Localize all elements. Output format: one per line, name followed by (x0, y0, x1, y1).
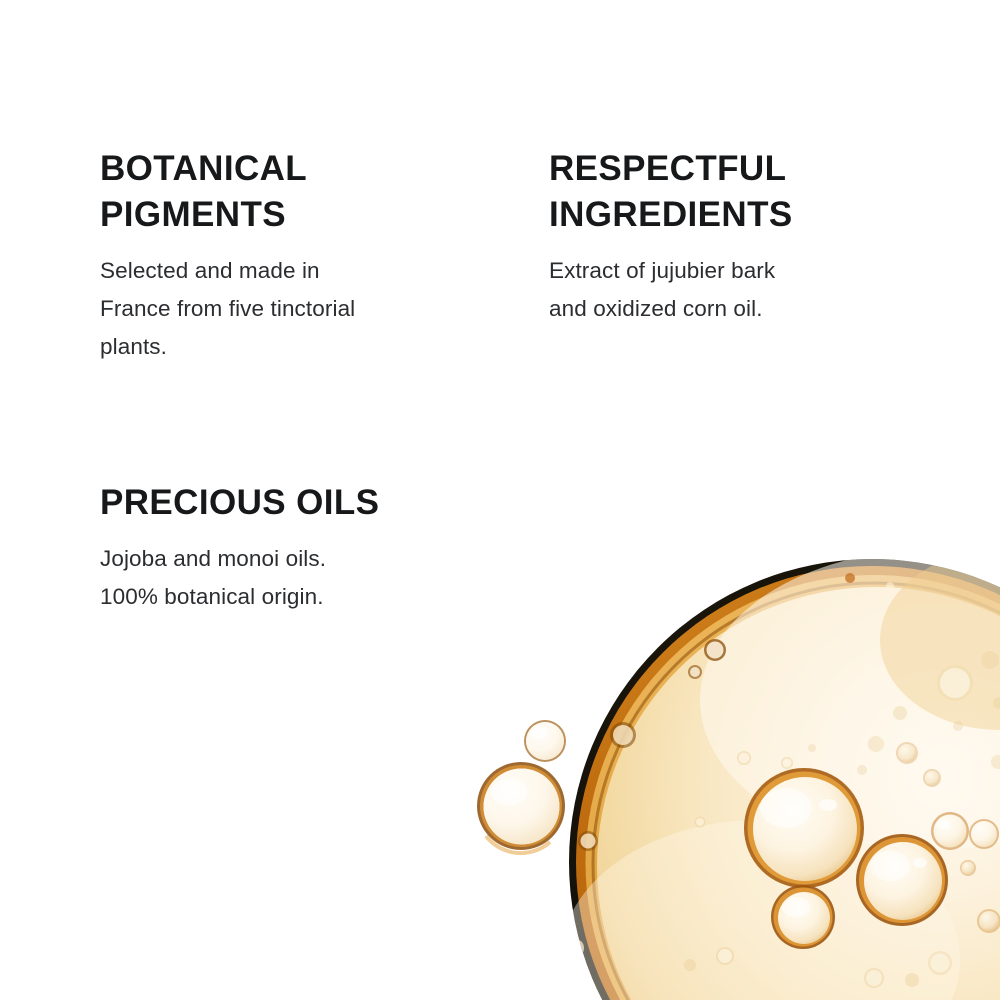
feature-heading-precious-oils: PRECIOUS OILS (100, 480, 520, 526)
product-benefits-page: BOTANICAL PIGMENTS Selected and made in … (0, 0, 1000, 1000)
feature-heading-botanical-pigments: BOTANICAL PIGMENTS (100, 146, 500, 238)
feature-body-botanical-pigments: Selected and made in France from five ti… (100, 252, 500, 366)
feature-text-layer: BOTANICAL PIGMENTS Selected and made in … (0, 0, 1000, 1000)
feature-body-respectful-ingredients: Extract of jujubier bark and oxidized co… (549, 252, 949, 328)
feature-heading-respectful-ingredients: RESPECTFUL INGREDIENTS (549, 146, 949, 238)
feature-block-botanical-pigments: BOTANICAL PIGMENTS Selected and made in … (100, 146, 500, 366)
feature-block-respectful-ingredients: RESPECTFUL INGREDIENTS Extract of jujubi… (549, 146, 949, 328)
feature-body-precious-oils: Jojoba and monoi oils. 100% botanical or… (100, 540, 520, 616)
feature-block-precious-oils: PRECIOUS OILS Jojoba and monoi oils. 100… (100, 480, 520, 616)
